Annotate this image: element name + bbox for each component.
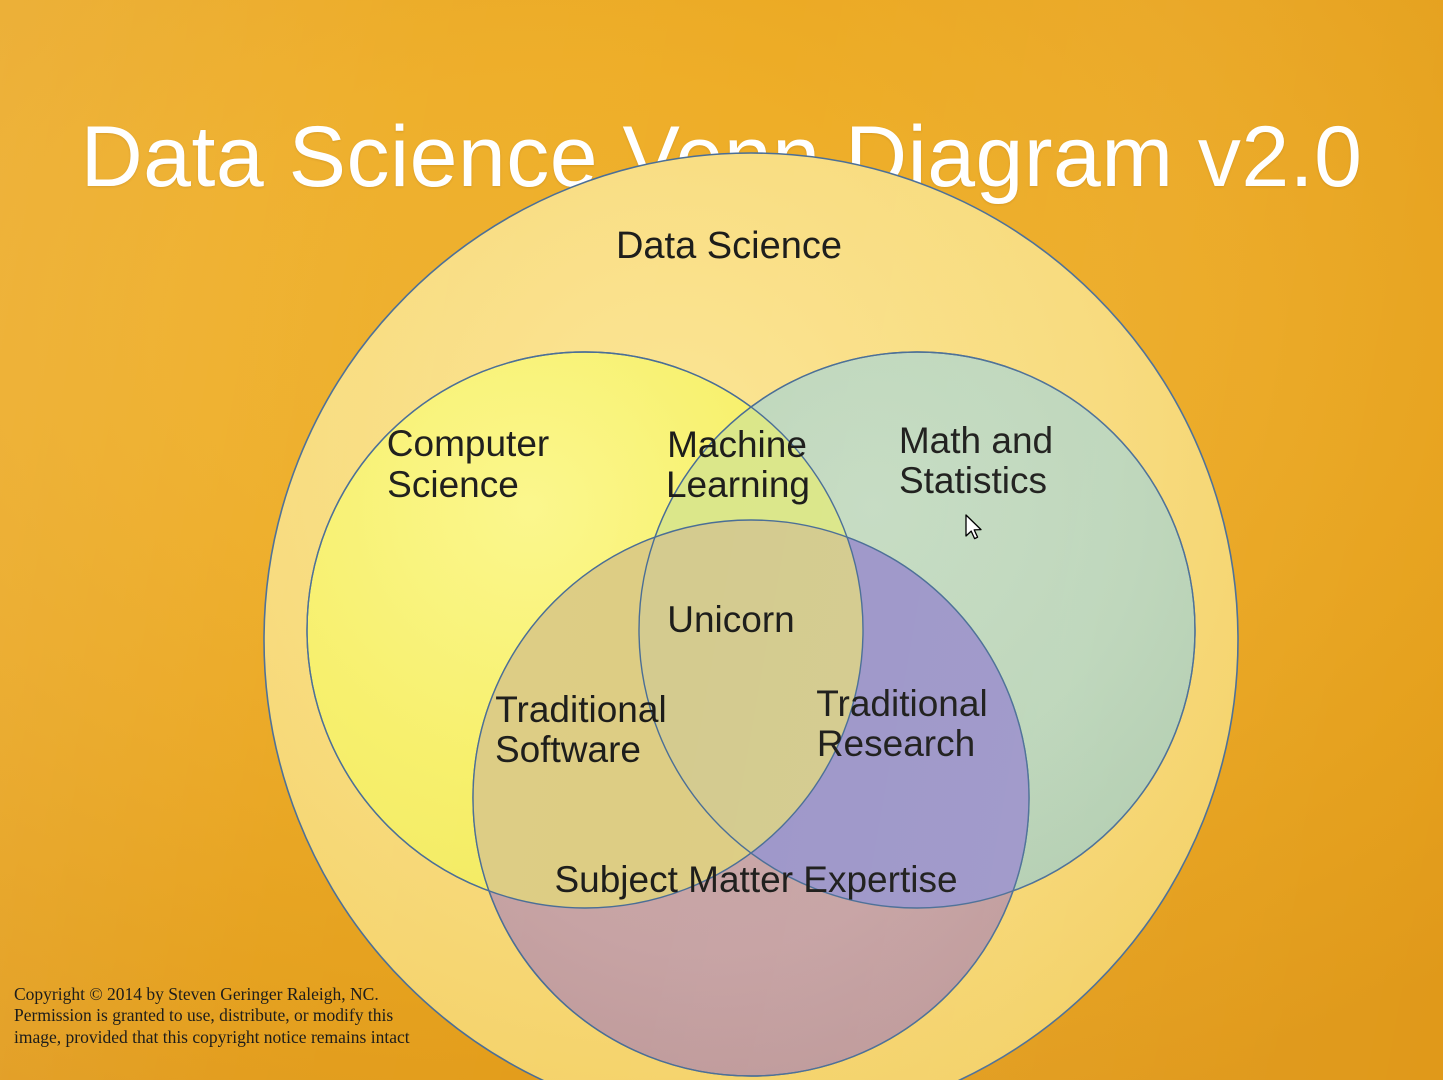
label-traditional-software: Traditional Software (495, 689, 667, 770)
slide-canvas: Data Science Venn Diagram v2.0 (0, 0, 1443, 1080)
svg-text:Traditional: Traditional (495, 689, 666, 730)
svg-text:Research: Research (817, 723, 975, 764)
label-math-and-statistics: Math and Statistics (899, 420, 1053, 501)
svg-text:Machine: Machine (667, 424, 807, 465)
svg-text:Science: Science (387, 464, 519, 505)
svg-text:Traditional: Traditional (816, 683, 987, 724)
svg-text:Software: Software (495, 729, 641, 770)
svg-text:Learning: Learning (666, 464, 810, 505)
label-data-science: Data Science (616, 225, 842, 267)
label-unicorn: Unicorn (667, 599, 795, 640)
svg-text:Subject Matter Expertise: Subject Matter Expertise (554, 859, 957, 900)
svg-text:Math and: Math and (899, 420, 1053, 461)
label-subject-matter-expertise: Subject Matter Expertise (554, 859, 957, 900)
svg-text:Computer: Computer (387, 423, 549, 464)
label-machine-learning: Machine Learning (666, 424, 810, 505)
venn-diagram: Data Science (0, 0, 1443, 1080)
svg-text:Unicorn: Unicorn (667, 599, 795, 640)
svg-text:Statistics: Statistics (899, 460, 1047, 501)
copyright-notice: Copyright © 2014 by Steven Geringer Rale… (14, 984, 574, 1048)
label-traditional-research: Traditional Research (816, 683, 987, 764)
